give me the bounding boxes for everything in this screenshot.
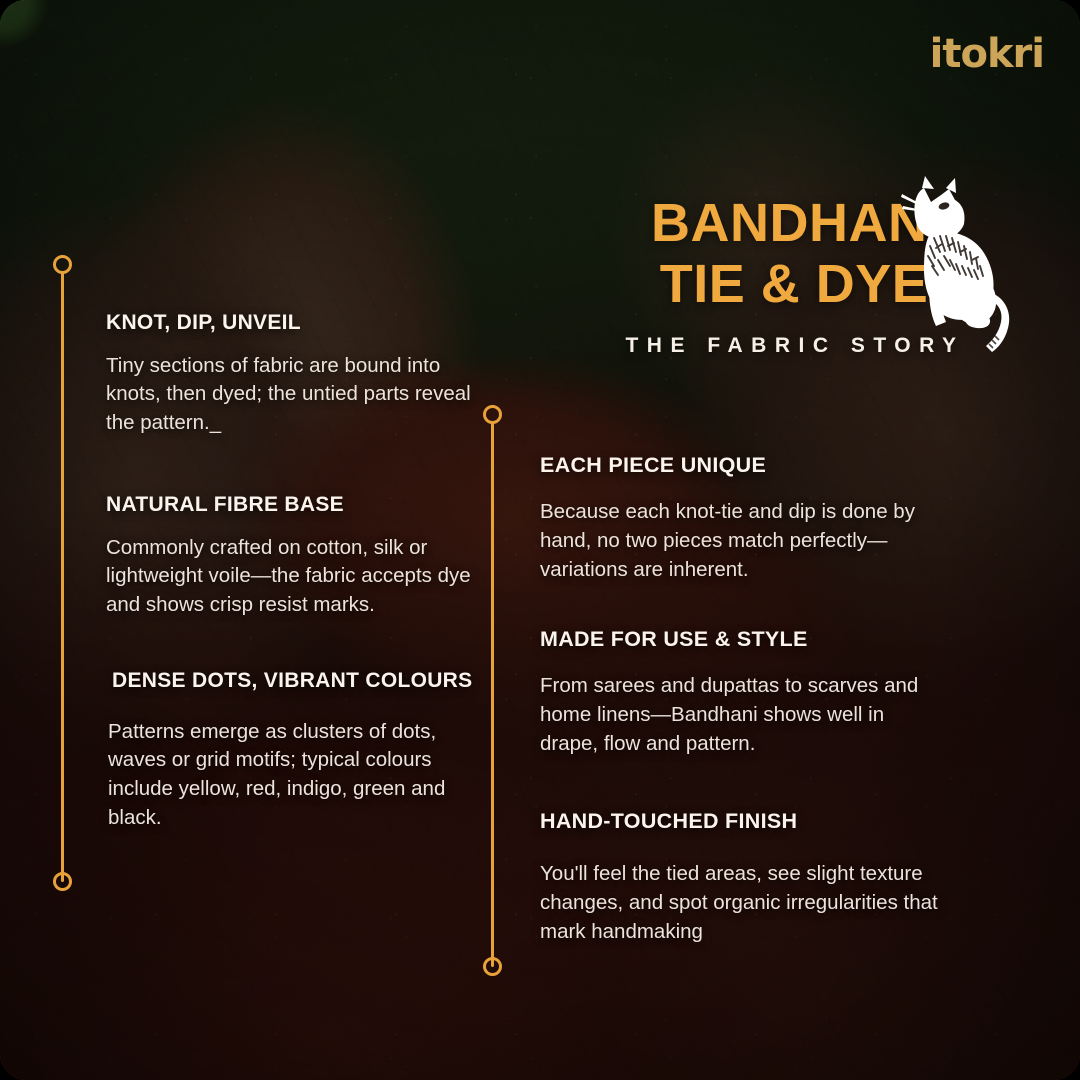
- info-block-knot-dip-unveil: KNOT, DIP, UNVEIL Tiny sections of fabri…: [106, 310, 478, 438]
- infographic-poster: itokri BANDHANI TIE & DYE THE FABRIC STO…: [0, 0, 1080, 1080]
- cat-icon: [900, 176, 1016, 354]
- block-heading: EACH PIECE UNIQUE: [540, 452, 940, 478]
- block-heading: NATURAL FIBRE BASE: [106, 492, 478, 518]
- block-body: Because each knot-tie and dip is done by…: [540, 498, 940, 584]
- block-body: Patterns emerge as clusters of dots, wav…: [108, 718, 484, 833]
- timeline-rail-right: [491, 422, 494, 967]
- timeline-node-right-bottom: [483, 957, 502, 976]
- info-block-natural-fibre-base: NATURAL FIBRE BASE Commonly crafted on c…: [106, 492, 478, 620]
- info-block-hand-touched-finish: HAND-TOUCHED FINISH You'll feel the tied…: [540, 808, 944, 946]
- block-body: You'll feel the tied areas, see slight t…: [540, 860, 944, 946]
- info-block-made-for-use-and-style: MADE FOR USE & STYLE From sarees and dup…: [540, 626, 940, 758]
- info-block-dense-dots-vibrant-colours: DENSE DOTS, VIBRANT COLOURS Patterns eme…: [112, 668, 484, 832]
- info-block-each-piece-unique: EACH PIECE UNIQUE Because each knot-tie …: [540, 452, 940, 584]
- timeline-node-right-top: [483, 405, 502, 424]
- block-body: Commonly crafted on cotton, silk or ligh…: [106, 534, 478, 620]
- itokri-logo[interactable]: itokri: [930, 34, 1044, 74]
- block-body: From sarees and dupattas to scarves and …: [540, 672, 940, 758]
- block-heading: DENSE DOTS, VIBRANT COLOURS: [112, 668, 484, 694]
- timeline-node-left-top: [53, 255, 72, 274]
- block-heading: KNOT, DIP, UNVEIL: [106, 310, 478, 336]
- block-heading: HAND-TOUCHED FINISH: [540, 808, 944, 834]
- timeline-node-left-bottom: [53, 872, 72, 891]
- timeline-rail-left: [61, 272, 64, 882]
- block-body: Tiny sections of fabric are bound into k…: [106, 352, 478, 438]
- block-heading: MADE FOR USE & STYLE: [540, 626, 940, 652]
